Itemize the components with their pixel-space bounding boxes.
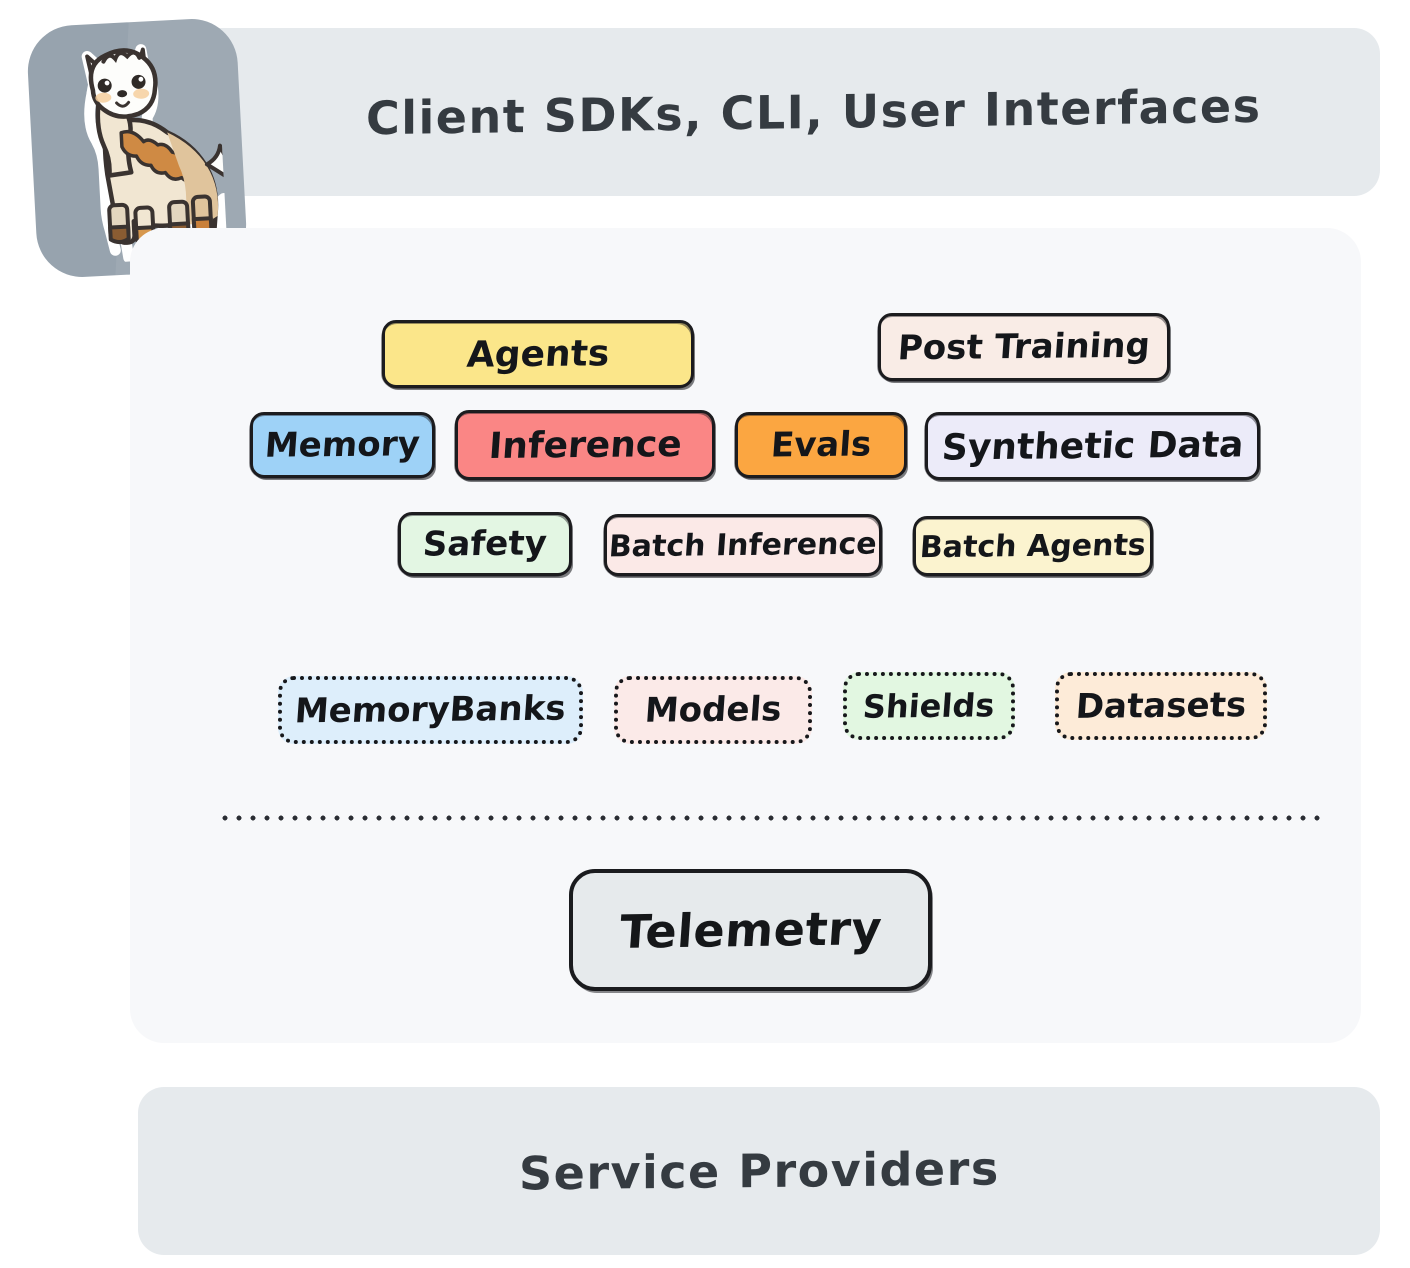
capability-memory[interactable]: Memory (250, 412, 435, 478)
capability-label: Batch Agents (919, 527, 1147, 564)
capability-synthetic-data[interactable]: Synthetic Data (925, 412, 1260, 480)
capability-label: Post Training (897, 326, 1152, 369)
resource-label: Shields (862, 686, 996, 725)
resource-models[interactable]: Models (614, 676, 812, 744)
capability-label: Batch Inference (608, 526, 878, 564)
capability-batch-agents[interactable]: Batch Agents (913, 516, 1153, 576)
capability-label: Synthetic Data (940, 424, 1244, 468)
capability-evals[interactable]: Evals (735, 412, 907, 478)
capability-telemetry[interactable]: Telemetry (569, 869, 932, 991)
capability-label: Inference (487, 423, 683, 466)
capability-batch-inference[interactable]: Batch Inference (604, 514, 882, 576)
telemetry-label: Telemetry (618, 901, 884, 959)
resource-label: MemoryBanks (294, 689, 568, 732)
service-providers-title: Service Providers (519, 1141, 1000, 1200)
service-providers-banner: Service Providers (138, 1087, 1380, 1255)
capability-agents[interactable]: Agents (382, 320, 694, 388)
capability-safety[interactable]: Safety (398, 512, 572, 576)
resource-shields[interactable]: Shields (843, 672, 1015, 740)
capability-post-training[interactable]: Post Training (878, 313, 1170, 381)
client-layer-title: Client SDKs, CLI, User Interfaces (366, 79, 1262, 146)
resource-datasets[interactable]: Datasets (1055, 672, 1267, 740)
capability-label: Safety (422, 523, 549, 564)
resource-label: Models (643, 689, 782, 730)
capability-label: Agents (465, 333, 610, 375)
section-divider (218, 815, 1322, 821)
capability-label: Memory (264, 424, 422, 466)
capability-label: Evals (769, 424, 872, 465)
resource-memorybanks[interactable]: MemoryBanks (278, 676, 583, 744)
capability-inference[interactable]: Inference (455, 410, 715, 480)
architecture-diagram: Client SDKs, CLI, User Interfaces (0, 0, 1410, 1268)
client-layer-banner: Client SDKs, CLI, User Interfaces (158, 28, 1380, 196)
resource-label: Datasets (1074, 685, 1247, 727)
